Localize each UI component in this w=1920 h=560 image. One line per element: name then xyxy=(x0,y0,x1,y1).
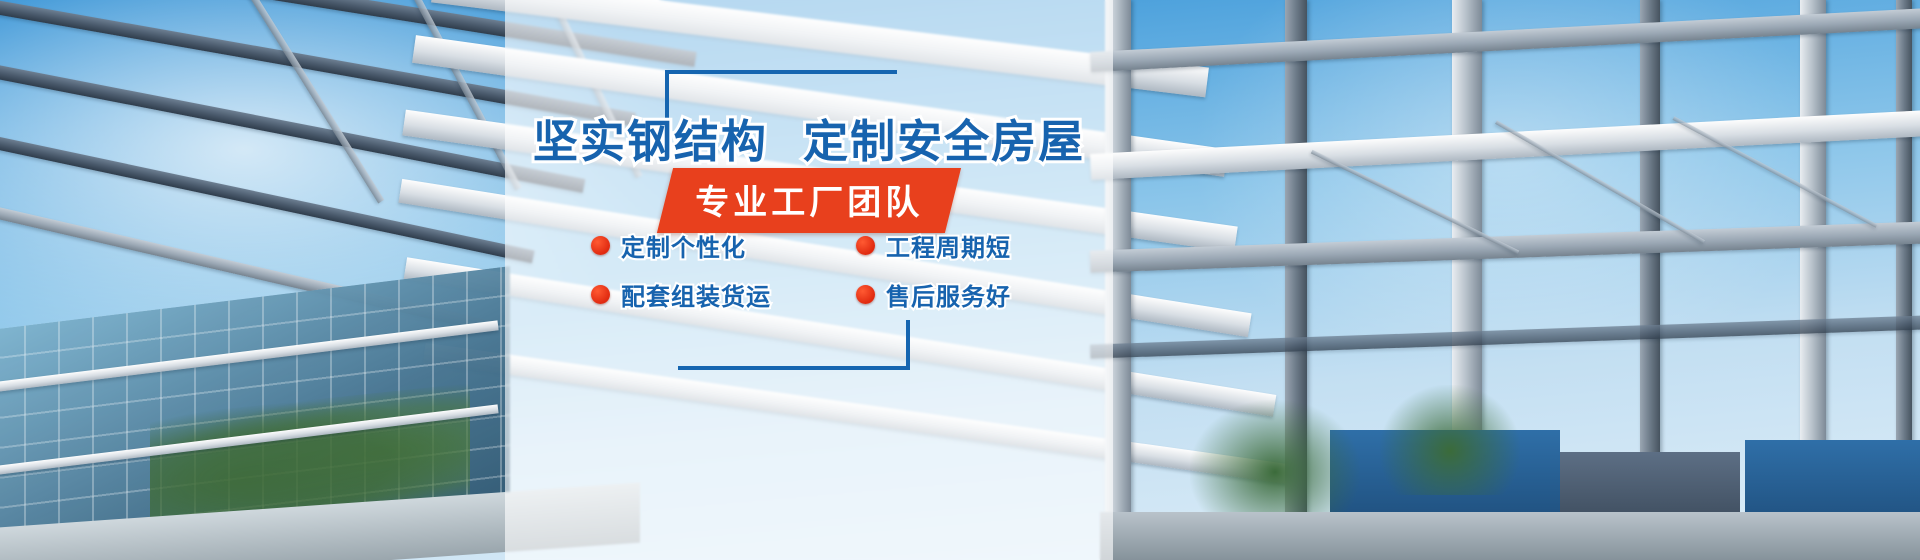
hero-banner: 坚实钢结构 定制安全房屋 专业工厂团队 定制个性化 工程周期短 配套组装货运 售… xyxy=(0,0,1920,560)
red-dot-icon xyxy=(591,236,610,255)
treeline xyxy=(1380,385,1520,495)
feature-list: 定制个性化 工程周期短 配套组装货运 售后服务好 xyxy=(505,228,1113,312)
feature-label: 售后服务好 xyxy=(886,277,1011,312)
ground-strip xyxy=(1100,512,1920,560)
corner-bracket-top-left-icon xyxy=(665,70,897,120)
feature-label: 配套组装货运 xyxy=(621,277,771,312)
ribbon-label: 专业工厂团队 xyxy=(695,175,923,224)
feature-label: 工程周期短 xyxy=(886,228,1011,263)
feature-label: 定制个性化 xyxy=(621,228,746,263)
page-title: 坚实钢结构 定制安全房屋 xyxy=(533,118,1085,165)
list-item: 配套组装货运 xyxy=(591,277,848,312)
list-item: 售后服务好 xyxy=(856,277,1113,312)
ribbon-container: 专业工厂团队 xyxy=(505,168,1113,233)
ribbon-badge: 专业工厂团队 xyxy=(657,168,961,233)
red-dot-icon xyxy=(856,236,875,255)
red-dot-icon xyxy=(856,285,875,304)
treeline xyxy=(1190,400,1360,520)
list-item: 工程周期短 xyxy=(856,228,1113,263)
corner-bracket-bottom-right-icon xyxy=(678,320,910,370)
headline-container: 坚实钢结构 定制安全房屋 xyxy=(505,118,1113,165)
red-dot-icon xyxy=(591,285,610,304)
list-item: 定制个性化 xyxy=(591,228,848,263)
